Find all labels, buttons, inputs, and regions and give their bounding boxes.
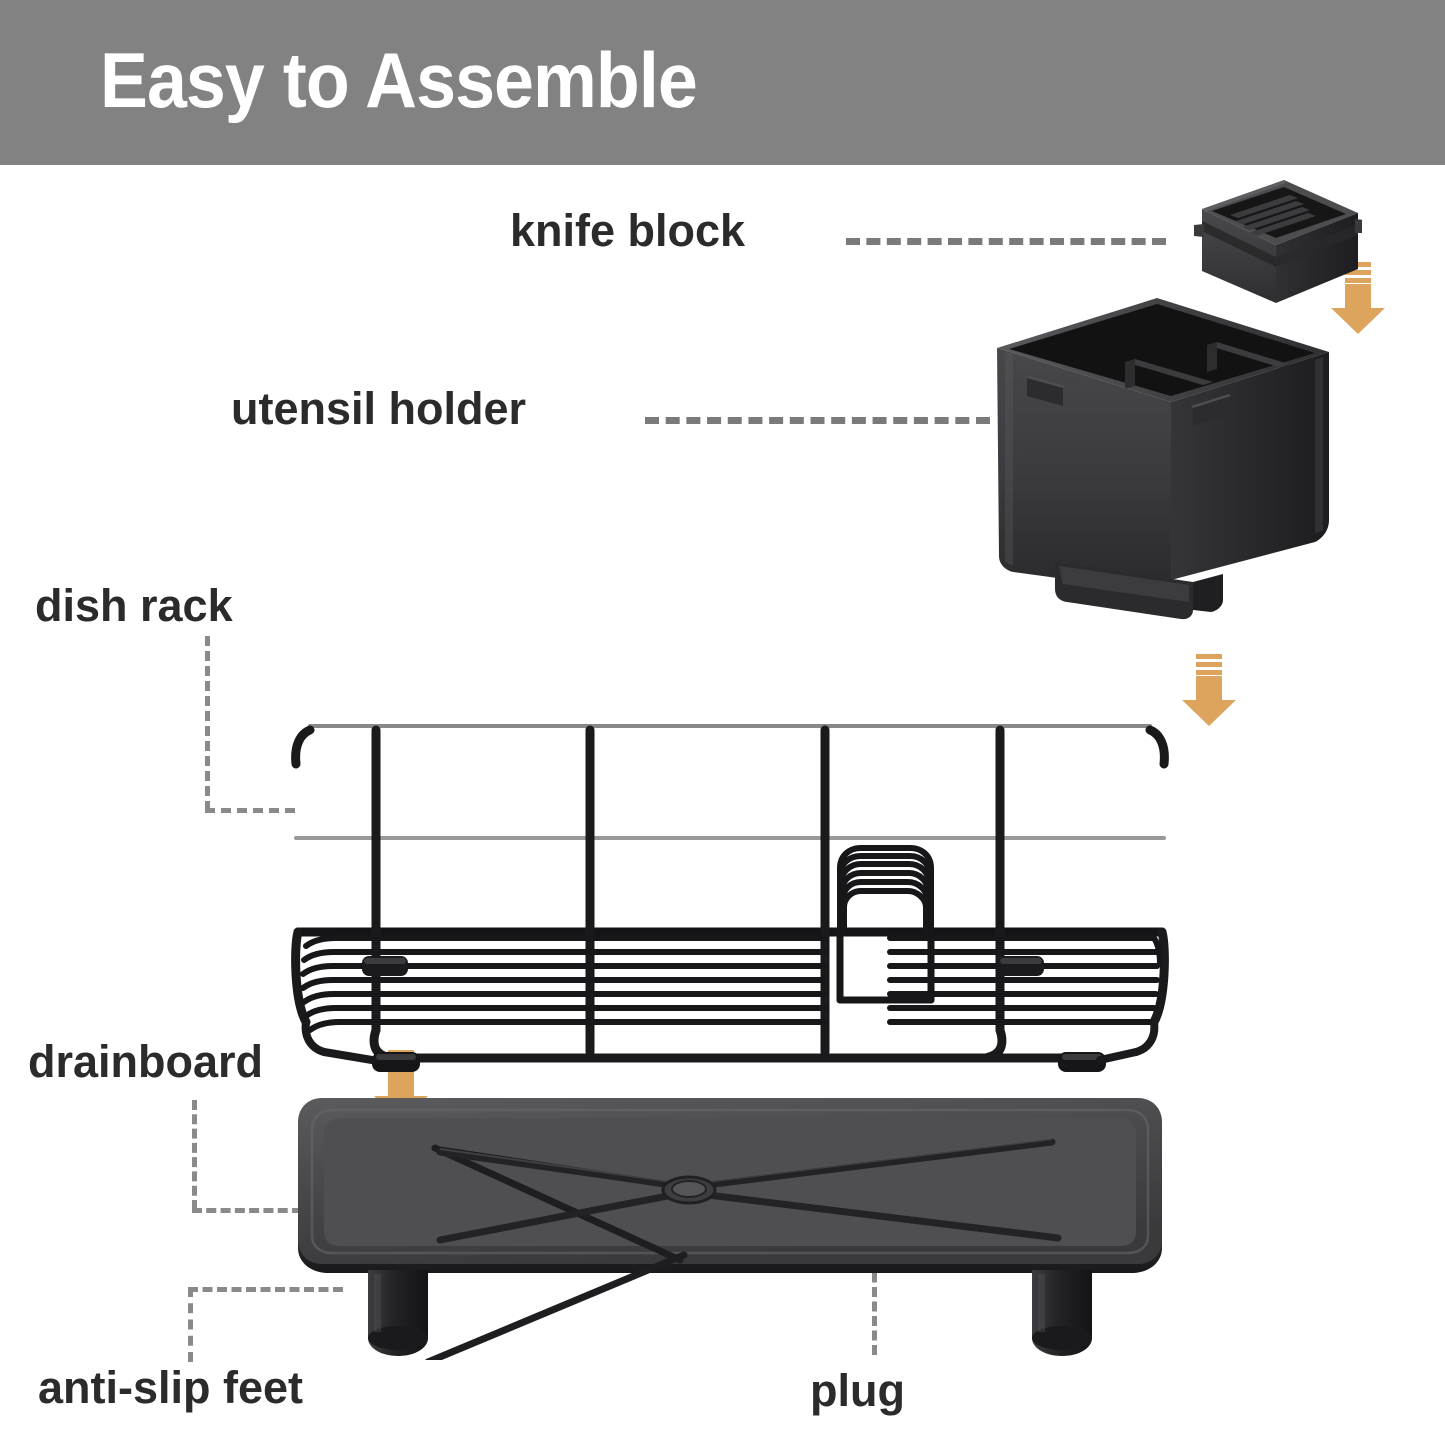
callout-label-anti-slip-feet: anti-slip feet xyxy=(38,1365,303,1410)
leader-line-utensil-holder xyxy=(645,417,990,424)
callout-label-knife-block: knife block xyxy=(510,208,745,253)
part-dish-rack xyxy=(280,700,1180,1085)
part-drainboard xyxy=(280,1090,1180,1360)
arrow-utensil-holder-down-icon xyxy=(1180,650,1238,728)
part-utensil-holder xyxy=(985,290,1340,630)
callout-label-plug: plug xyxy=(810,1368,905,1413)
leader-line-dish-rack-vertical xyxy=(205,636,210,811)
callout-label-drainboard: drainboard xyxy=(28,1039,263,1084)
leader-line-anti-slip-vertical xyxy=(188,1287,193,1362)
leader-line-knife-block xyxy=(846,238,1166,245)
infographic-page: Easy to Assemble xyxy=(0,0,1445,1434)
callout-label-utensil-holder: utensil holder xyxy=(231,386,526,431)
leader-line-drainboard-vertical xyxy=(192,1100,197,1210)
callout-label-dish-rack: dish rack xyxy=(35,583,233,628)
page-title: Easy to Assemble xyxy=(100,30,697,130)
header-banner: Easy to Assemble xyxy=(0,0,1445,165)
